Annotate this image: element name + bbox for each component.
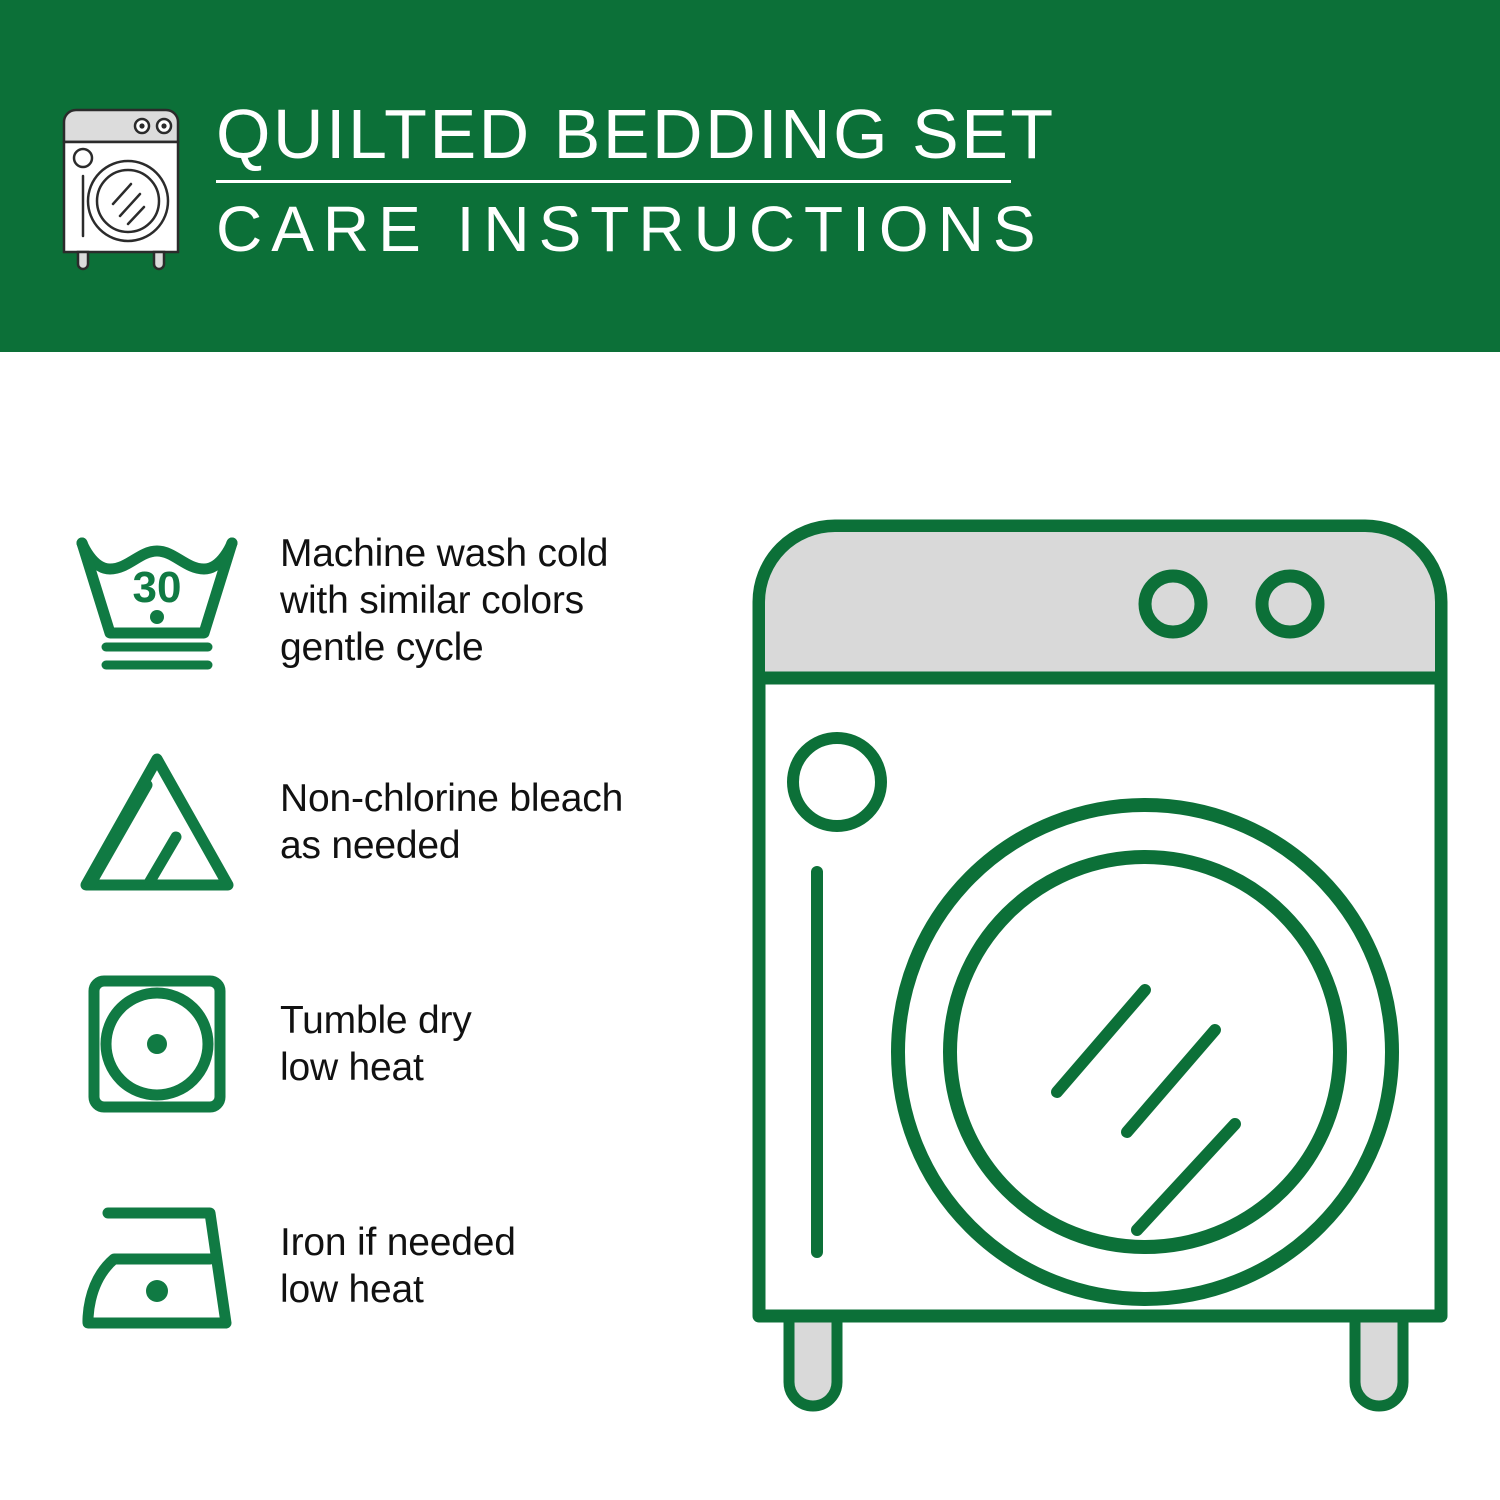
front-load-washing-machine-illustration: [745, 512, 1455, 1442]
wash-tub-30-gentle-icon: 30: [70, 520, 245, 680]
title-divider: [216, 180, 1011, 183]
list-item-label: Tumble dry low heat: [280, 997, 472, 1091]
care-instruction-list: 30 Machine wash cold with similar colors…: [70, 502, 710, 1364]
non-chlorine-bleach-triangle-icon: [70, 742, 245, 902]
page-subtitle: CARE INSTRUCTIONS: [216, 193, 1045, 265]
washer-control-panel: [765, 532, 1435, 678]
list-item-label: Non-chlorine bleach as needed: [280, 775, 623, 869]
washer-leg-right: [1355, 1312, 1403, 1406]
list-item-label: Iron if needed low heat: [280, 1219, 516, 1313]
list-item: 30 Machine wash cold with similar colors…: [70, 502, 710, 698]
page-title: QUILTED BEDDING SET: [216, 96, 1056, 172]
list-item: Iron if needed low heat: [70, 1168, 710, 1364]
tumble-dry-low-heat-icon: [70, 964, 245, 1124]
content-area: 30 Machine wash cold with similar colors…: [0, 352, 1500, 1500]
list-item: Tumble dry low heat: [70, 946, 710, 1142]
washer-leg-left: [789, 1312, 837, 1406]
header-content: QUILTED BEDDING SET CARE INSTRUCTIONS: [58, 96, 1056, 274]
wash-temperature-value: 30: [133, 563, 182, 612]
iron-low-heat-icon: [70, 1186, 245, 1346]
list-item-label: Machine wash cold with similar colors ge…: [280, 530, 608, 671]
list-item: Non-chlorine bleach as needed: [70, 724, 710, 920]
header-title-group: QUILTED BEDDING SET CARE INSTRUCTIONS: [216, 96, 1056, 265]
header-banner: QUILTED BEDDING SET CARE INSTRUCTIONS: [0, 0, 1500, 352]
washing-machine-logo-icon: [58, 104, 184, 274]
